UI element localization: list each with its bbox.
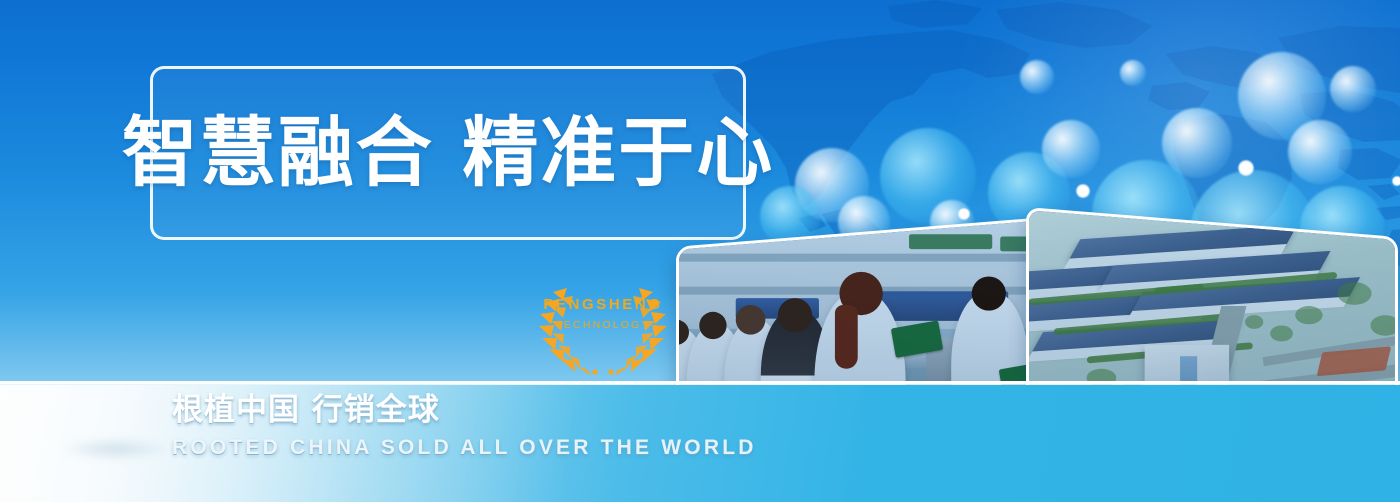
band-smudge — [60, 438, 170, 460]
badge-company-name: PENGSHENG — [523, 296, 683, 313]
tagline: 根植中国 行销全球 ROOTED CHINA SOLD ALL OVER THE… — [172, 392, 757, 460]
headline-text: 智慧融合 精准于心 — [122, 115, 774, 191]
badge-company-subtitle: TECHNOLOGY — [523, 319, 683, 331]
tagline-english: ROOTED CHINA SOLD ALL OVER THE WORLD — [172, 436, 757, 460]
headline-box: 智慧融合 精准于心 — [150, 66, 746, 240]
tagline-chinese: 根植中国 行销全球 — [172, 392, 757, 429]
promo-banner: 智慧融合 精准于心 — [0, 0, 1400, 502]
company-badge: PENGSHENG TECHNOLOGY — [523, 268, 683, 376]
